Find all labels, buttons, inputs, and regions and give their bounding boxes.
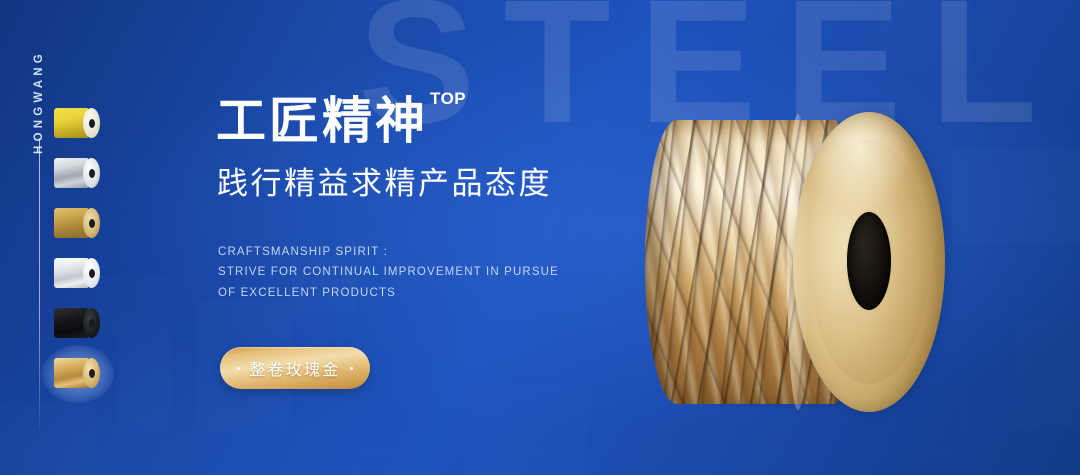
coil-glyph-icon	[54, 308, 100, 338]
coil-side-face	[793, 112, 945, 412]
english-tagline-line: OF EXCELLENT PRODUCTS	[218, 283, 559, 303]
english-tagline: CRAFTSMANSHIP SPIRIT : STRIVE FOR CONTIN…	[218, 242, 559, 303]
rail-divider-line	[39, 138, 40, 430]
coil-thumb-chrome-silver[interactable]	[48, 148, 110, 198]
english-tagline-line: STRIVE FOR CONTINUAL IMPROVEMENT IN PURS…	[218, 262, 559, 282]
coil-glyph-icon	[54, 358, 100, 388]
bullet-dot-icon	[237, 367, 240, 370]
coil-thumb-rose-gold-active[interactable]	[48, 348, 110, 398]
page-title-text: 工匠精神	[216, 93, 428, 149]
coil-glyph-icon	[54, 108, 100, 138]
page-title: 工匠精神TOP	[216, 96, 464, 146]
hero-product-coil	[645, 112, 945, 412]
product-cta-label: 整卷玫瑰金	[249, 356, 340, 380]
page-subtitle: 践行精益求精产品态度	[217, 168, 552, 199]
product-cta-button[interactable]: 整卷玫瑰金	[220, 347, 370, 389]
bullet-dot-icon	[350, 367, 353, 370]
coil-edge-highlight	[787, 114, 809, 410]
coil-glyph-icon	[54, 158, 100, 188]
english-tagline-line: CRAFTSMANSHIP SPIRIT :	[218, 242, 559, 262]
page-title-superscript: TOP	[430, 89, 466, 108]
hero-banner: STEEL HONGWANG 工匠精神TOP 践行精益求精产品态度 CRAFTS…	[0, 0, 1080, 475]
product-thumbnail-list[interactable]	[48, 98, 110, 398]
coil-thumb-white-silver[interactable]	[48, 248, 110, 298]
coil-thumb-brass[interactable]	[48, 198, 110, 248]
coil-thumb-black[interactable]	[48, 298, 110, 348]
coil-center-bore	[847, 212, 891, 310]
coil-thumb-yellow-gold[interactable]	[48, 98, 110, 148]
hero-product-image[interactable]	[645, 112, 945, 412]
coil-glyph-icon	[54, 258, 100, 288]
coil-glyph-icon	[54, 208, 100, 238]
